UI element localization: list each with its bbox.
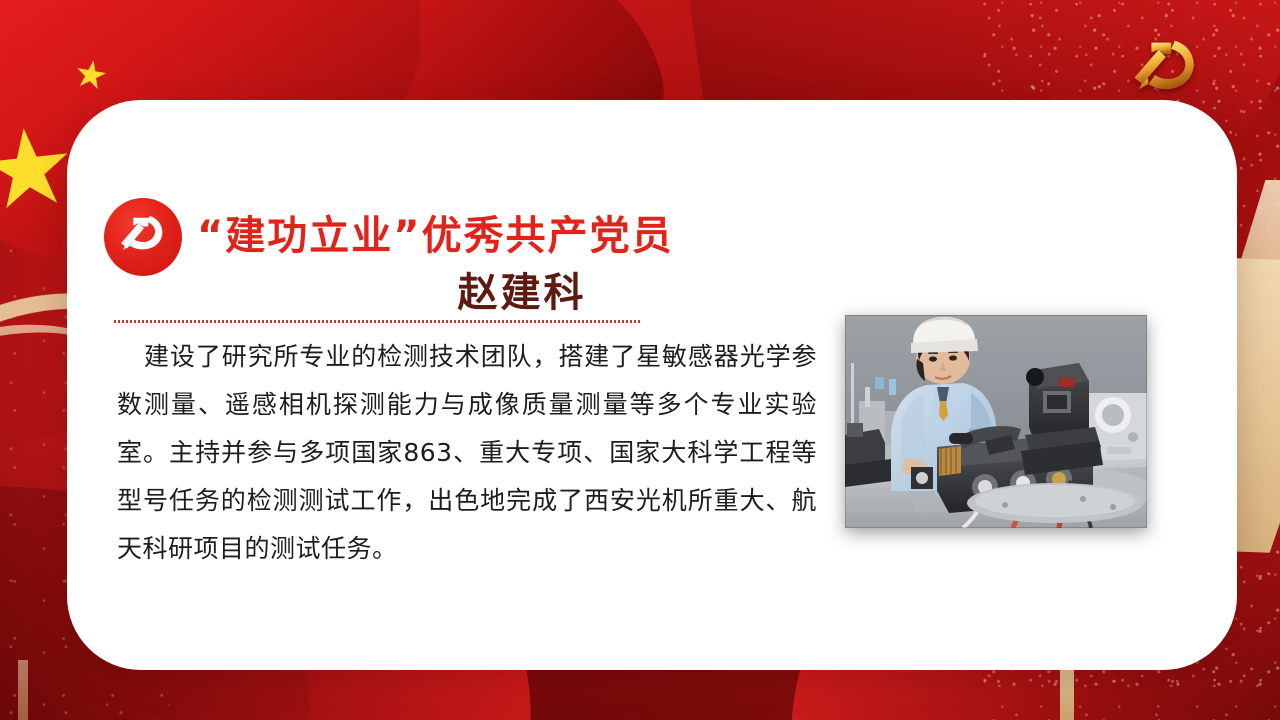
body-paragraph: 建设了研究所专业的检测技术团队，搭建了星敏感器光学参数测量、遥感相机探测能力与成… [117, 333, 817, 573]
lab-photo [845, 315, 1147, 528]
page-title: “建功立业”优秀共产党员 [197, 203, 847, 261]
person-name: 赵建科 [197, 260, 847, 318]
gold-strip-bottom-left [18, 660, 28, 720]
dotted-divider [114, 320, 641, 323]
content-card: “建功立业”优秀共产党员 赵建科 建设了研究所专业的检测技术团队，搭建了星敏感器… [67, 100, 1237, 670]
hammer-sickle-icon [104, 198, 182, 276]
party-emblem-icon [1118, 30, 1210, 102]
